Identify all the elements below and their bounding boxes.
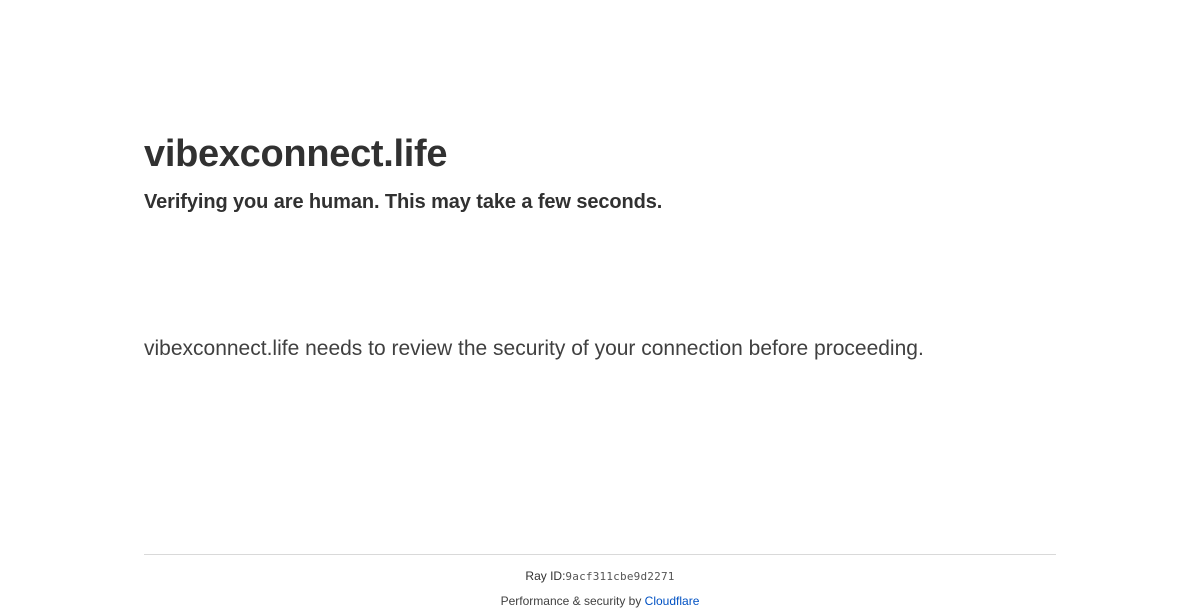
ray-id-row: Ray ID:9acf311cbe9d2271 (144, 555, 1056, 584)
page-title: vibexconnect.life (144, 131, 1056, 177)
header-block: vibexconnect.life Verifying you are huma… (144, 0, 1056, 215)
attribution-prefix: Performance & security by (501, 594, 645, 608)
cloudflare-link[interactable]: Cloudflare (645, 594, 700, 608)
challenge-page: vibexconnect.life Verifying you are huma… (0, 0, 1200, 600)
ray-id-label: Ray ID: (525, 569, 565, 583)
challenge-description: vibexconnect.life needs to review the se… (144, 321, 944, 367)
challenge-widget-slot[interactable] (144, 233, 1056, 321)
verification-status-text: Verifying you are human. This may take a… (144, 177, 1056, 215)
content-column: vibexconnect.life Verifying you are huma… (144, 0, 1056, 367)
turnstile-widget-container[interactable] (144, 233, 444, 298)
attribution-row: Performance & security by Cloudflare (144, 584, 1056, 609)
ray-id-value: 9acf311cbe9d2271 (565, 570, 674, 583)
page-footer: Ray ID:9acf311cbe9d2271 Performance & se… (144, 554, 1056, 609)
